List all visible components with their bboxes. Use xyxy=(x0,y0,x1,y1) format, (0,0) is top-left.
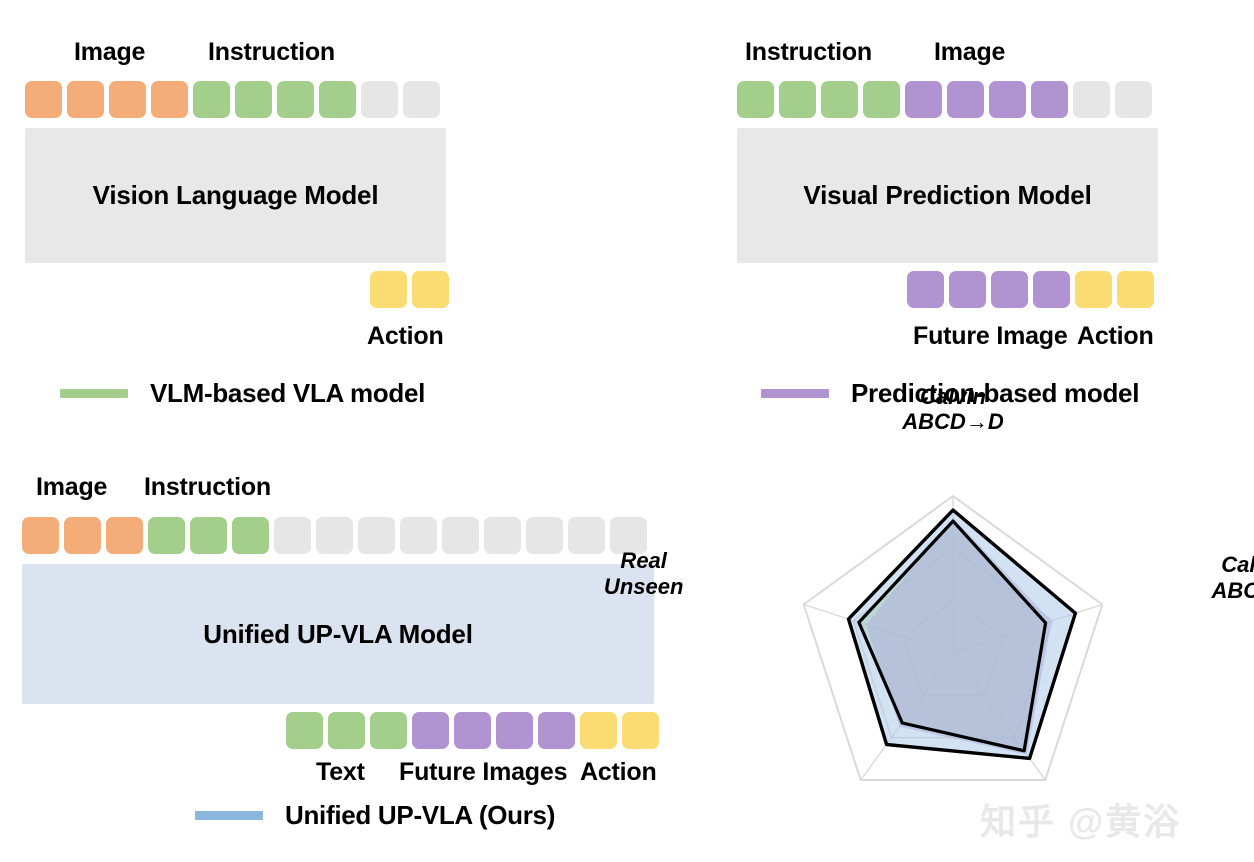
legend-vlm-based-label: VLM-based VLA model xyxy=(150,378,425,409)
pred-input-token-row xyxy=(737,81,1152,118)
pred-input-token-future xyxy=(989,81,1026,118)
legend-swatch-purple xyxy=(761,389,829,398)
vision-language-model-box: Vision Language Model xyxy=(25,128,446,263)
visual-prediction-model-label: Visual Prediction Model xyxy=(803,180,1091,211)
figure-root: Image Instruction Vision Language Model … xyxy=(0,0,1254,862)
upvla-output-token-future xyxy=(496,712,533,749)
pred-output-token-future xyxy=(1033,271,1070,308)
upvla-text-label: Text xyxy=(316,758,365,787)
pred-input-token-text xyxy=(863,81,900,118)
vlm-input-token-image xyxy=(109,81,146,118)
upvla-input-token-empty xyxy=(568,517,605,554)
radar-axis-label-0: CalvinABCD→D xyxy=(902,384,1003,435)
upvla-output-token-action xyxy=(580,712,617,749)
panel-prediction-based: Instruction Image Visual Prediction Mode… xyxy=(720,0,1254,420)
upvla-output-token-future xyxy=(412,712,449,749)
upvla-input-token-text xyxy=(148,517,185,554)
radar-axis-label-4: RealUnseen xyxy=(604,548,683,599)
vlm-input-token-empty xyxy=(403,81,440,118)
upvla-output-token-text xyxy=(328,712,365,749)
panel-unified-upvla: Image Instruction Unified UP-VLA Model T… xyxy=(0,455,680,862)
vlm-input-token-image xyxy=(25,81,62,118)
upvla-input-token-image xyxy=(106,517,143,554)
vlm-input-token-text xyxy=(277,81,314,118)
pred-output-token-action xyxy=(1117,271,1154,308)
upvla-input-token-empty xyxy=(484,517,521,554)
upvla-input-token-empty xyxy=(526,517,563,554)
upvla-input-token-text xyxy=(190,517,227,554)
pred-output-token-future xyxy=(949,271,986,308)
upvla-future-images-label: Future Images xyxy=(399,758,567,787)
upvla-input-token-image xyxy=(22,517,59,554)
vlm-output-token-row xyxy=(370,271,449,308)
panel-vlm-based-vla: Image Instruction Vision Language Model … xyxy=(0,0,620,420)
pred-input-token-future xyxy=(947,81,984,118)
vlm-input-token-image xyxy=(151,81,188,118)
vlm-image-label: Image xyxy=(74,38,145,67)
upvla-input-token-text xyxy=(232,517,269,554)
vlm-output-token-action xyxy=(370,271,407,308)
legend-swatch-blue xyxy=(195,811,263,820)
vlm-output-token-action xyxy=(412,271,449,308)
vlm-action-label: Action xyxy=(367,322,444,351)
upvla-output-token-row xyxy=(286,712,659,749)
pred-future-image-label: Future Image xyxy=(913,322,1068,351)
upvla-input-token-empty xyxy=(400,517,437,554)
unified-upvla-model-label: Unified UP-VLA Model xyxy=(203,619,472,650)
vlm-instruction-label: Instruction xyxy=(208,38,335,67)
pred-input-token-text xyxy=(779,81,816,118)
vlm-input-token-text xyxy=(235,81,272,118)
vlm-input-token-text xyxy=(193,81,230,118)
pred-input-token-future xyxy=(1031,81,1068,118)
pred-action-label: Action xyxy=(1077,322,1154,351)
upvla-image-label: Image xyxy=(36,473,107,502)
upvla-output-token-text xyxy=(370,712,407,749)
upvla-input-token-empty xyxy=(316,517,353,554)
zhihu-watermark: 知乎 @黄浴 xyxy=(980,793,1181,845)
legend-unified-upvla: Unified UP-VLA (Ours) xyxy=(195,800,555,831)
radar-axis-label-1: CalvinABC→D xyxy=(1212,552,1254,603)
upvla-output-token-text xyxy=(286,712,323,749)
vlm-input-token-row xyxy=(25,81,440,118)
vlm-input-token-empty xyxy=(361,81,398,118)
upvla-output-token-future xyxy=(538,712,575,749)
upvla-input-token-empty xyxy=(442,517,479,554)
pred-instruction-label: Instruction xyxy=(745,38,872,67)
legend-swatch-green xyxy=(60,389,128,398)
upvla-input-token-empty xyxy=(274,517,311,554)
upvla-output-token-future xyxy=(454,712,491,749)
pred-image-label: Image xyxy=(934,38,1005,67)
pred-output-token-action xyxy=(1075,271,1112,308)
pred-input-token-empty xyxy=(1115,81,1152,118)
upvla-instruction-label: Instruction xyxy=(144,473,271,502)
legend-vlm-based: VLM-based VLA model xyxy=(60,378,425,409)
pred-input-token-future xyxy=(905,81,942,118)
pred-output-token-future xyxy=(907,271,944,308)
upvla-input-token-row xyxy=(22,517,647,554)
pred-input-token-empty xyxy=(1073,81,1110,118)
vlm-input-token-image xyxy=(67,81,104,118)
visual-prediction-model-box: Visual Prediction Model xyxy=(737,128,1158,263)
pred-input-token-text xyxy=(821,81,858,118)
pred-output-token-row xyxy=(907,271,1154,308)
pred-output-token-future xyxy=(991,271,1028,308)
vision-language-model-label: Vision Language Model xyxy=(93,180,379,211)
vlm-input-token-text xyxy=(319,81,356,118)
upvla-input-token-image xyxy=(64,517,101,554)
legend-unified-upvla-label: Unified UP-VLA (Ours) xyxy=(285,800,555,831)
unified-upvla-model-box: Unified UP-VLA Model xyxy=(22,564,654,704)
pred-input-token-text xyxy=(737,81,774,118)
upvla-input-token-empty xyxy=(358,517,395,554)
